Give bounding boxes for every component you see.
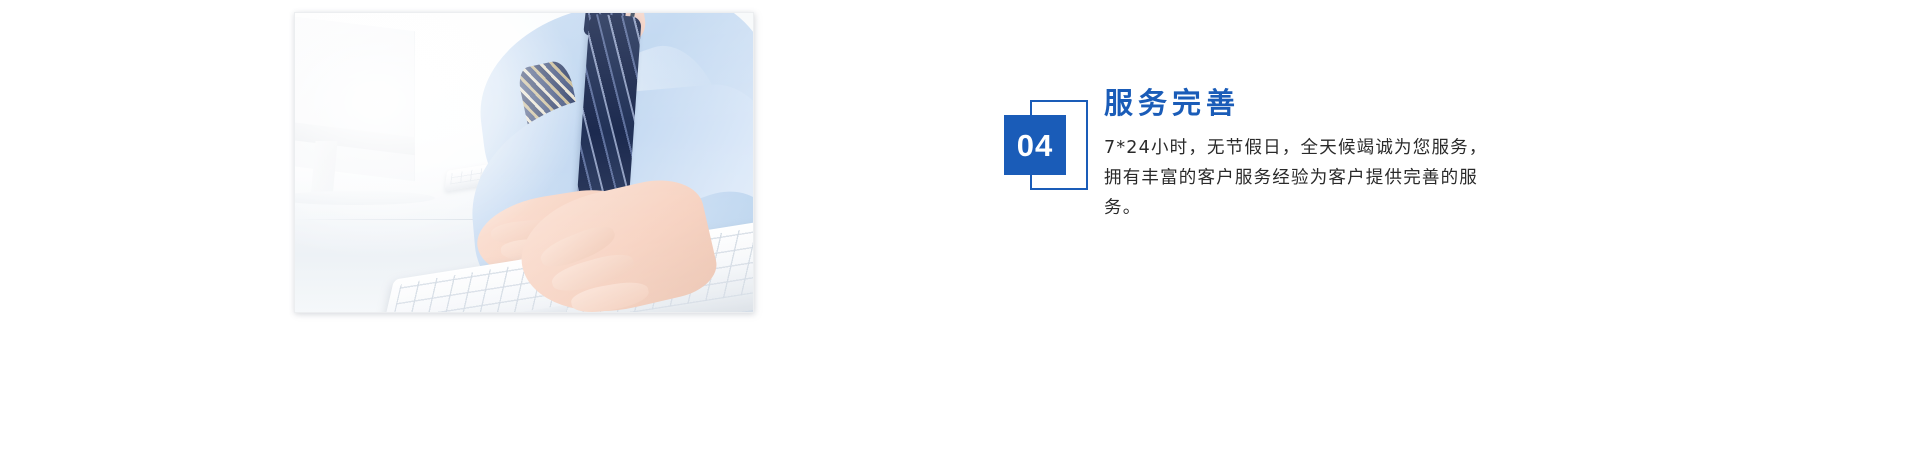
feature-description: 7*24小时，无节假日，全天候竭诚为您服务，拥有丰富的客户服务经验为客户提供完善…: [1104, 133, 1496, 223]
feature-title: 服务完善: [1104, 86, 1504, 120]
service-team-photo: [294, 12, 754, 313]
feature-text-column: 服务完善 7*24小时，无节假日，全天候竭诚为您服务，拥有丰富的客户服务经验为客…: [1104, 86, 1504, 224]
step-badge: 04: [1004, 100, 1090, 192]
step-badge-number: 04: [1017, 130, 1053, 161]
step-badge-fill: 04: [1004, 115, 1066, 175]
promo-banner: 04 服务完善 7*24小时，无节假日，全天候竭诚为您服务，拥有丰富的客户服务经…: [0, 0, 1920, 452]
monitor-screen-shape: [294, 12, 415, 181]
photo-canvas: [295, 13, 753, 312]
